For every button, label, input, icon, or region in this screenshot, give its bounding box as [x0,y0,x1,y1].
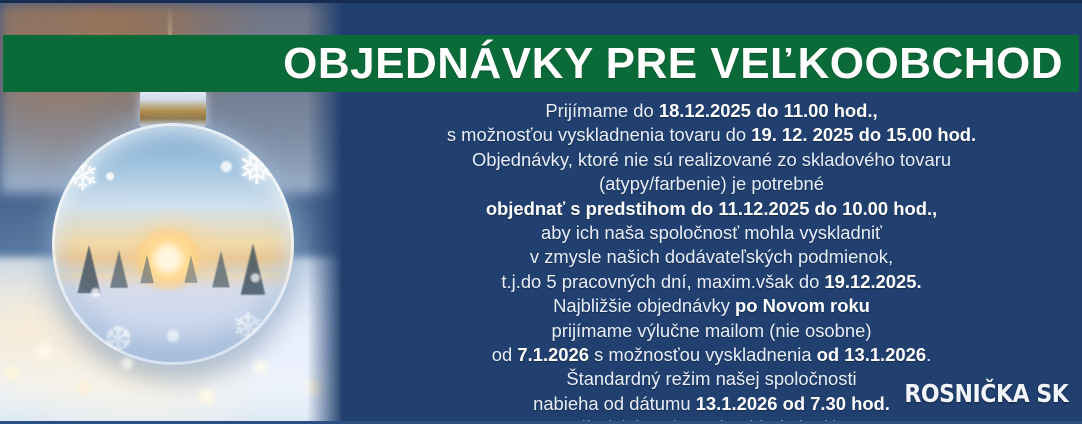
message-text: . [926,344,931,365]
message-text: Najbližšie objednávky [553,295,735,316]
message-text: (fyzické preberanie objednávok). [579,417,845,424]
message-text: v zmysle našich dodávateľských podmienok… [530,246,893,267]
company-logo: ROSNIČKA SK [904,379,1068,408]
message-text: Štandardný režim našej spoločnosti [566,368,856,389]
message-emphasis: objednať s predstihom do 11.12.2025 do 1… [486,198,937,219]
message-line: t.j.do 5 pracovných dní, maxim.však do 1… [355,270,1068,294]
message-line: (atypy/farbenie) je potrebné [355,172,1068,196]
page-title: OBJEDNÁVKY PRE VEĽKOOBCHOD [283,42,1063,86]
message-line: Prijímame do 18.12.2025 do 11.00 hod., [355,99,1068,123]
message-text: s možnosťou vyskladnenia tovaru do [447,124,751,145]
message-text: t.j.do 5 pracovných dní, maxim.však do [501,271,824,292]
message-emphasis: 19. 12. 2025 do 15.00 hod. [751,124,976,145]
message-text: (atypy/farbenie) je potrebné [599,173,824,194]
message-emphasis: 7.1.2026 [517,344,589,365]
ornament-cap [140,89,206,127]
message-line: Objednávky, ktoré nie sú realizované zo … [355,148,1068,172]
message-emphasis: 18.12.2025 do 11.00 hod., [659,100,878,121]
title-bar: OBJEDNÁVKY PRE VEĽKOOBCHOD [3,35,1079,92]
message-text: Objednávky, ktoré nie sú realizované zo … [472,149,951,170]
snow-sparkles [0,301,341,421]
message-text: prijímame výlučne mailom (nie osobne) [552,320,872,341]
message-line: prijímame výlučne mailom (nie osobne) [355,319,1068,343]
message-emphasis: po Novom roku [735,295,870,316]
message-text: s možnosťou vyskladnenia [589,344,817,365]
message-line: s možnosťou vyskladnenia tovaru do 19. 1… [355,123,1068,147]
message-text: Prijímame do [545,100,658,121]
promotional-banner: ❄ ❅ ❄ ❆ OBJEDNÁVKY PRE VEĽKOOBCHOD Prijí… [0,0,1082,424]
message-text: od [492,344,518,365]
message-panel: Prijímame do 18.12.2025 do 11.00 hod.,s … [341,92,1082,421]
message-lines: Prijímame do 18.12.2025 do 11.00 hod.,s … [355,99,1068,424]
message-text: nabieha od dátumu [533,393,696,414]
message-line: aby ich naša spoločnosť mohla vyskladniť [355,221,1068,245]
message-emphasis: od 13.1.2026 [817,344,926,365]
message-line: objednať s predstihom do 11.12.2025 do 1… [355,197,1068,221]
message-line: od 7.1.2026 s možnosťou vyskladnenia od … [355,343,1068,367]
message-text: aby ich naša spoločnosť mohla vyskladniť [541,222,882,243]
message-line: v zmysle našich dodávateľských podmienok… [355,245,1068,269]
message-emphasis: 13.1.2026 od 7.30 hod. [696,393,890,414]
message-line: (fyzické preberanie objednávok). [355,416,1068,424]
message-line: Najbližšie objednávky po Novom roku [355,294,1068,318]
message-emphasis: 19.12.2025. [824,271,921,292]
